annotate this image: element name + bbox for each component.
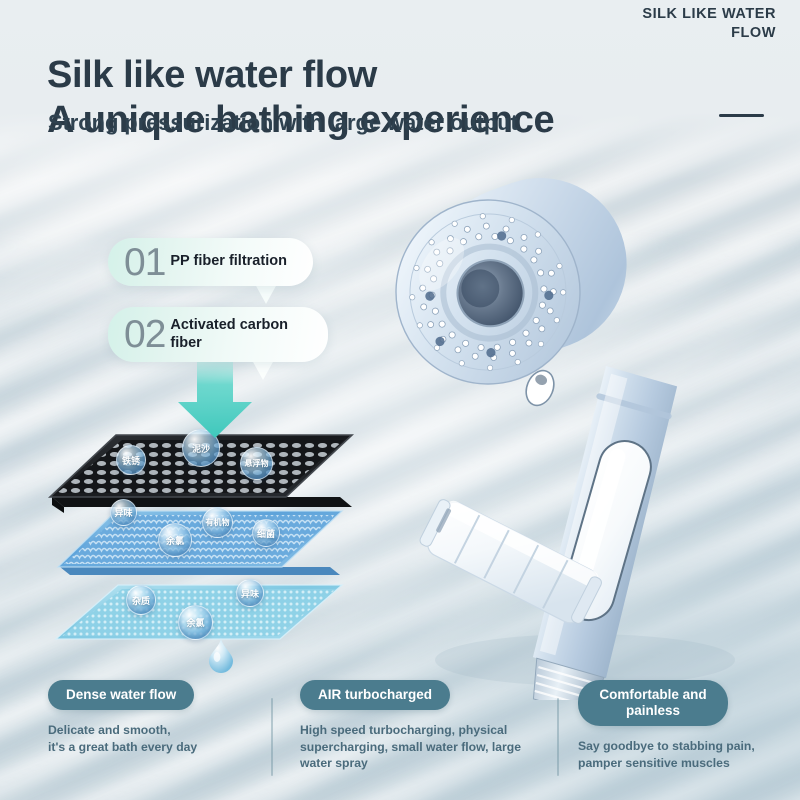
page-subtitle: Strong pressurization with large water o… [48, 110, 518, 136]
filtration-layer-stack: 泥沙 铁锈 悬浮物 [30, 415, 370, 695]
filter-layer-fine-mesh: 杂质 余氯 异味 [30, 571, 360, 683]
contaminant-bubble: 铁锈 [116, 445, 146, 475]
contaminant-bubble: 有机物 [202, 507, 233, 538]
callout-number-02: 02 [124, 315, 165, 354]
contaminant-bubble: 余氯 [158, 523, 192, 557]
page-title: Silk like water flow A unique bathing ex… [47, 8, 554, 189]
contaminant-bubble: 杂质 [126, 585, 156, 615]
feature-dense-water-flow: Dense water flow Delicate and smooth, it… [48, 680, 263, 755]
contaminant-bubble: 余氯 [178, 605, 213, 640]
feature-description: High speed turbocharging, physical super… [300, 722, 555, 771]
callout-bubble-01: 01 PP fiber filtration [108, 238, 313, 286]
product-poster: Silk like water flow A unique bathing ex… [0, 0, 800, 800]
feature-comfortable-painless: Comfortable and painless Say goodbye to … [578, 680, 788, 771]
feature-pill-label[interactable]: Dense water flow [48, 680, 194, 710]
callout-number-01: 01 [124, 243, 165, 282]
feature-strip: Dense water flow Delicate and smooth, it… [0, 680, 800, 800]
feature-air-turbocharged: AIR turbocharged High speed turbochargin… [300, 680, 555, 771]
contaminant-bubble: 异味 [110, 499, 137, 526]
contaminant-bubble: 异味 [236, 579, 264, 607]
feature-divider [271, 698, 273, 776]
headline-line-1: Silk like water flow [47, 54, 377, 96]
water-droplet-icon [207, 636, 235, 674]
downward-flow-arrow-icon [172, 352, 258, 443]
contaminant-bubble: 悬浮物 [240, 447, 273, 480]
callout-tail-01 [255, 284, 277, 304]
contaminant-bubble: 细菌 [252, 519, 280, 547]
feature-pill-label[interactable]: AIR turbocharged [300, 680, 450, 710]
callout-label-01: PP fiber filtration [170, 253, 287, 270]
feature-description: Delicate and smooth, it's a great bath e… [48, 722, 263, 755]
feature-description: Say goodbye to stabbing pain, pamper sen… [578, 738, 788, 771]
callout-label-02: Activated carbon fiber [170, 317, 308, 351]
brand-mark: SILK LIKE WATER FLOW [596, 5, 776, 43]
callout-tail-02 [252, 360, 274, 380]
feature-pill-label[interactable]: Comfortable and painless [578, 680, 728, 726]
feature-divider [557, 698, 559, 776]
callout-bubble-02: 02 Activated carbon fiber [108, 307, 328, 362]
filtered-handheld-shower-head [370, 160, 790, 700]
brand-divider-rule [719, 114, 764, 117]
